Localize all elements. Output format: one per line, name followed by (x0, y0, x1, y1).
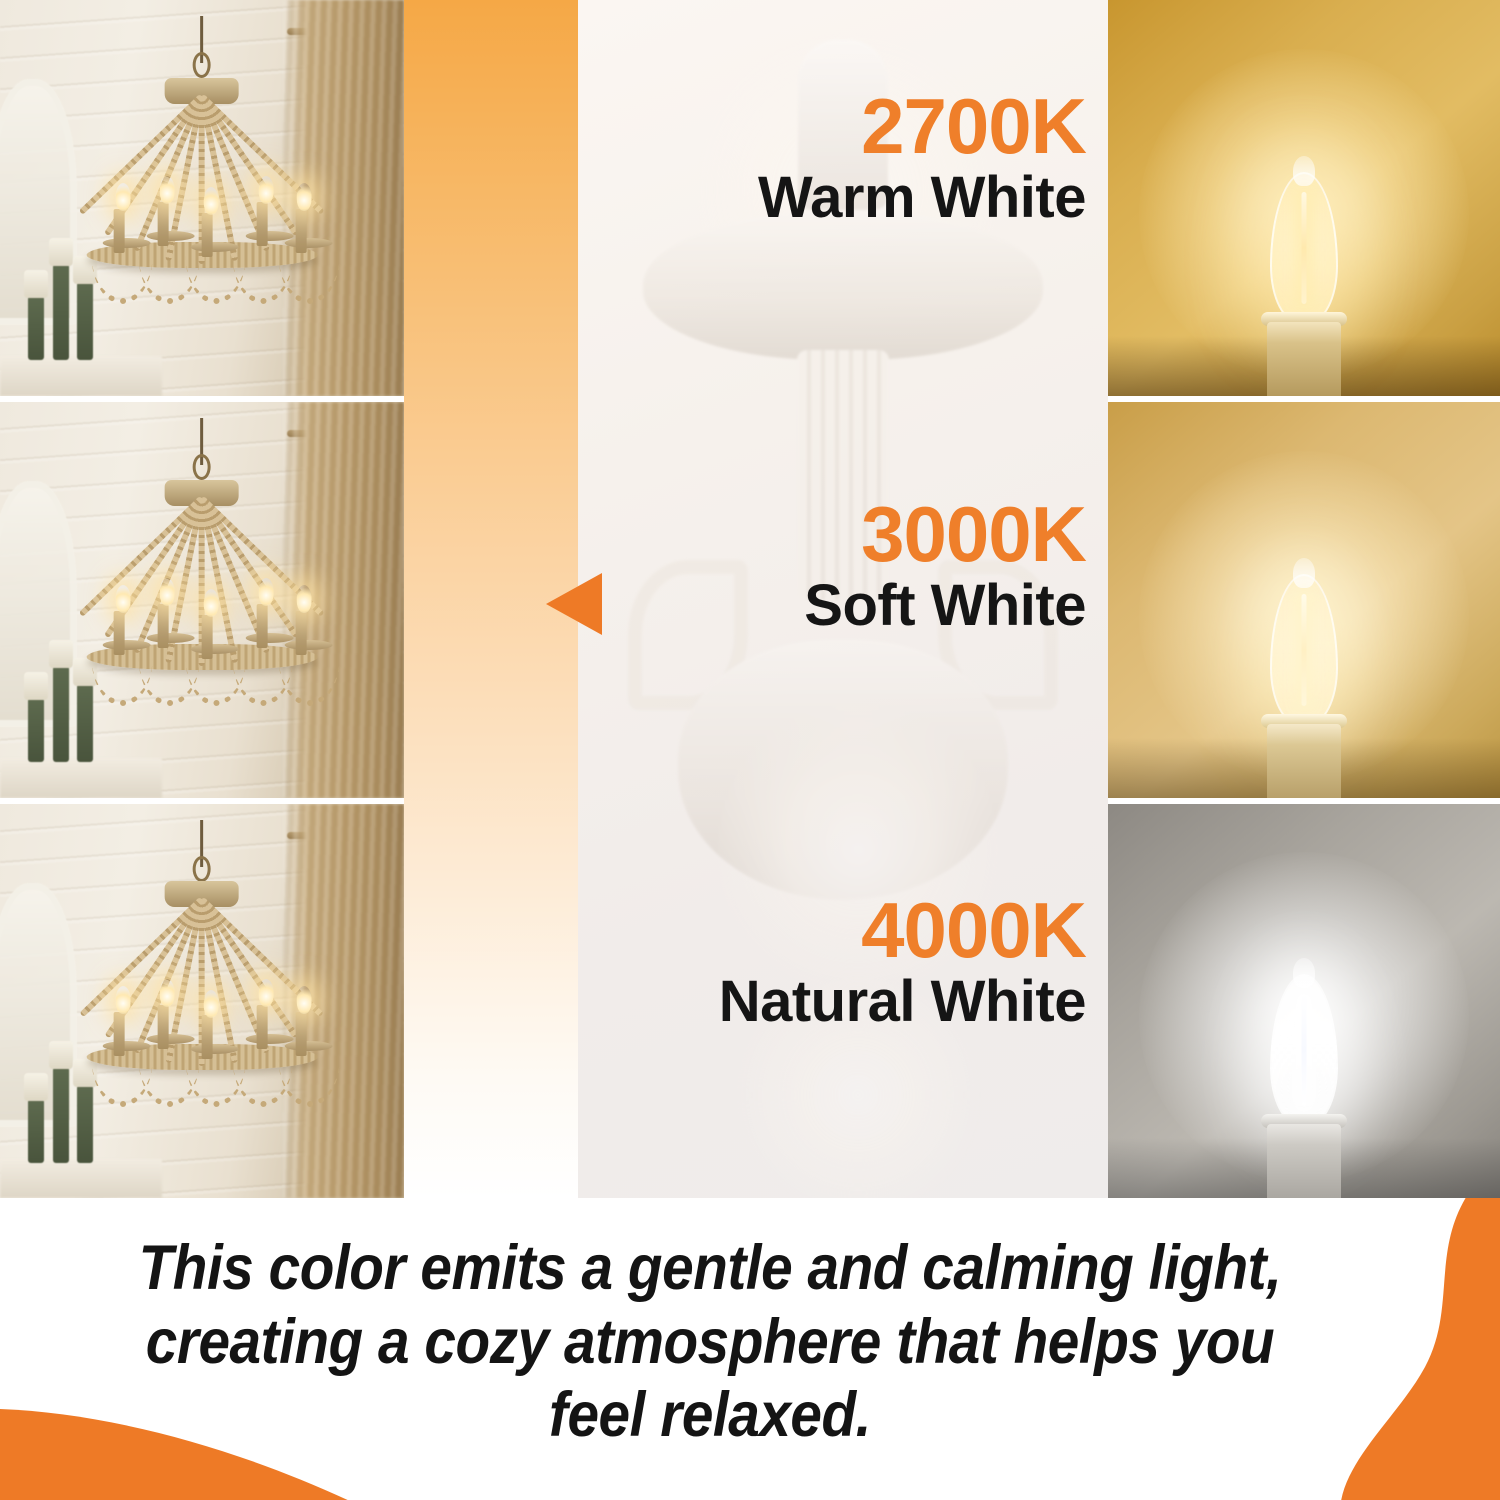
candle-cup (147, 1034, 195, 1044)
candle-sleeve (114, 1012, 125, 1056)
candle-flame (258, 979, 273, 1007)
candle-flame (115, 183, 130, 211)
bulb-photo-2700k (1108, 0, 1500, 396)
candle-flame (159, 578, 174, 606)
candle-flame (297, 585, 312, 613)
bulb-filament (1302, 594, 1307, 706)
candle-flame (203, 187, 218, 215)
bead-strand (80, 897, 204, 1017)
candle-cup (147, 231, 195, 241)
candle-flame (297, 986, 312, 1014)
room-photo-2700k (0, 0, 404, 396)
bead-strand (79, 496, 204, 617)
chain-ring (193, 454, 211, 480)
candle-sleeve (202, 615, 213, 659)
candle-sleeve (257, 202, 268, 246)
beaded-chandelier (65, 820, 340, 1182)
candle-sleeve (295, 1012, 306, 1056)
beaded-chandelier (65, 418, 340, 782)
candle-flame (115, 585, 130, 613)
bulb-base (1267, 322, 1341, 396)
candlestick (28, 698, 44, 762)
candle-sleeve (158, 1005, 169, 1049)
bulb-filament (1302, 994, 1307, 1106)
bulb-base (1267, 1124, 1341, 1198)
bulb-base (1267, 724, 1341, 798)
candle-cup (246, 1034, 294, 1044)
temperature-kelvin: 3000K (804, 496, 1086, 572)
room-photo-4000k (0, 804, 404, 1198)
candle-cup (191, 1044, 239, 1054)
bead-swag (279, 256, 339, 304)
chain-ring (193, 856, 211, 882)
caption-line-1: This color emits a gentle and calming li… (71, 1232, 1349, 1306)
candle-sleeve (257, 1005, 268, 1049)
temperature-name: Soft White (804, 576, 1086, 636)
chain-ring (193, 52, 211, 78)
candle-flame (258, 578, 273, 606)
bulb-tip (1293, 958, 1315, 988)
caption-paragraph: This color emits a gentle and calming li… (71, 1232, 1349, 1453)
right-bulb-column (1108, 0, 1500, 1198)
center-label-panel: 2700K Warm White 3000K Soft White 4000K … (578, 0, 1108, 1198)
candle-sleeve (202, 1015, 213, 1059)
candle-flame (258, 176, 273, 204)
candle-flame (159, 979, 174, 1007)
candlestick (28, 296, 44, 360)
candle-cup (246, 633, 294, 643)
candle-sleeve (295, 209, 306, 253)
candle-flame (297, 183, 312, 211)
infographic-stage: 2700K Warm White 3000K Soft White 4000K … (0, 0, 1500, 1500)
candlestick (28, 1099, 44, 1163)
triangle-left-icon (546, 573, 602, 635)
bulb-filament (1302, 192, 1307, 304)
caption-band: This color emits a gentle and calming li… (0, 1198, 1500, 1500)
temperature-name: Warm White (758, 168, 1086, 228)
bulb-photo-3000k (1108, 402, 1500, 798)
room-scene (0, 402, 404, 798)
bead-strand (79, 94, 204, 215)
caption-line-3: feel relaxed. (71, 1379, 1349, 1453)
left-photo-column (0, 0, 404, 1198)
temperature-kelvin: 2700K (758, 88, 1086, 164)
bead-swag (279, 1059, 339, 1107)
bulb-tip (1293, 558, 1315, 588)
candle-cup (246, 231, 294, 241)
candle-flame (203, 589, 218, 617)
beaded-chandelier (65, 16, 340, 380)
candle-sleeve (114, 611, 125, 655)
temperature-label-2700k: 2700K Warm White (758, 88, 1086, 229)
temperature-name: Natural White (719, 972, 1086, 1032)
temperature-label-4000k: 4000K Natural White (719, 892, 1086, 1033)
candle-sleeve (202, 213, 213, 257)
candle-flame (115, 986, 130, 1014)
candle-sleeve (158, 604, 169, 648)
temperature-label-3000k: 3000K Soft White (804, 496, 1086, 637)
temperature-kelvin: 4000K (719, 892, 1086, 968)
candle-cup (191, 242, 239, 252)
bulb-photo-4000k (1108, 804, 1500, 1198)
candle-cup (284, 1041, 332, 1051)
fixture-bowl (643, 210, 1043, 360)
candle-sleeve (114, 209, 125, 253)
bulb-tip (1293, 156, 1315, 186)
room-scene (0, 0, 404, 396)
candle-flame (203, 990, 218, 1018)
candle-flame (159, 176, 174, 204)
candle-sleeve (295, 611, 306, 655)
bead-swag (279, 658, 339, 706)
candle-cup (191, 644, 239, 654)
candle-sleeve (257, 604, 268, 648)
candle-cup (147, 633, 195, 643)
room-scene (0, 804, 404, 1198)
room-photo-3000k (0, 402, 404, 798)
caption-line-2: creating a cozy atmosphere that helps yo… (71, 1306, 1349, 1380)
candle-sleeve (158, 202, 169, 246)
